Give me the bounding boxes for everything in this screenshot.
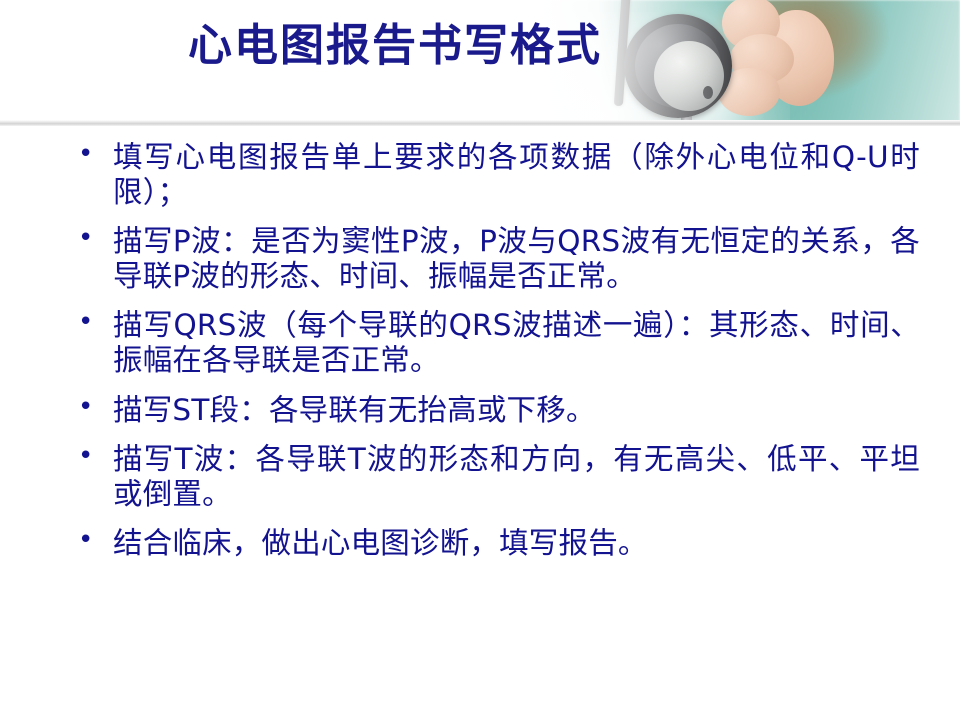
list-item: 描写P波：是否为窦性P波，P波与QRS波有无恒定的关系，各导联P波的形态、时间、… [0,224,960,294]
presentation-slide: 心电图报告书写格式 填写心电图报告单上要求的各项数据（除外心电位和Q-U时限）；… [0,0,960,720]
list-item: 填写心电图报告单上要求的各项数据（除外心电位和Q-U时限）； [0,140,960,210]
header-divider [0,120,960,126]
bullet-list: 填写心电图报告单上要求的各项数据（除外心电位和Q-U时限）； 描写P波：是否为窦… [0,140,960,561]
page-title: 心电图报告书写格式 [0,14,790,78]
list-item: 描写ST段：各导联有无抬高或下移。 [0,393,960,428]
slide-body: 填写心电图报告单上要求的各项数据（除外心电位和Q-U时限）； 描写P波：是否为窦… [0,140,960,561]
list-item: 描写QRS波（每个导联的QRS波描述一遍）：其形态、时间、振幅在各导联是否正常。 [0,308,960,378]
slide-header-banner: 心电图报告书写格式 [0,0,960,122]
list-item: 描写T波：各导联T波的形态和方向，有无高尖、低平、平坦或倒置。 [0,442,960,512]
list-item: 结合临床，做出心电图诊断，填写报告。 [0,526,960,561]
